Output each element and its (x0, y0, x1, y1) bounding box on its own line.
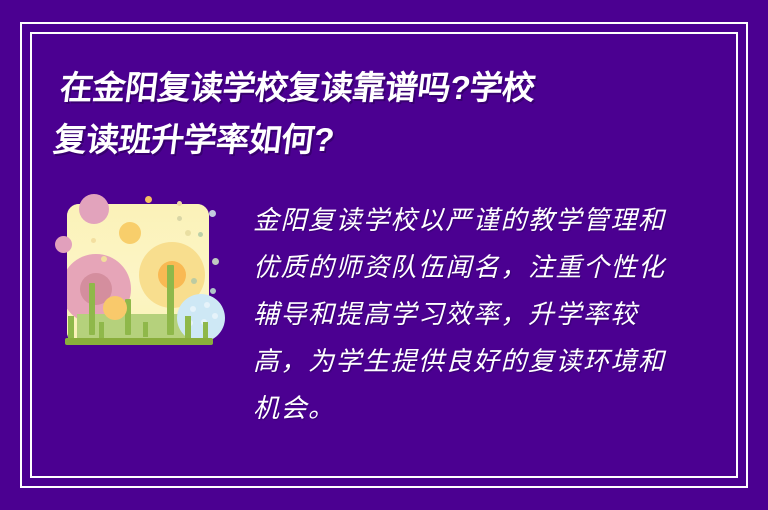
poster-canvas: 在金阳复读学校复读靠谱吗?学校 复读班升学率如何? (0, 0, 768, 510)
speck-icon (177, 201, 182, 206)
speck-icon (101, 256, 107, 262)
content-row: 金阳复读学校以严谨的教学管理和优质的师资队伍闻名，注重个性化辅导和提高学习效率，… (57, 198, 708, 433)
speck-icon (209, 210, 216, 217)
blue-flower-dot-icon (212, 313, 218, 319)
speck-icon (185, 230, 191, 236)
blue-flower-dot-icon (190, 306, 196, 312)
pink-bubble-icon (55, 236, 72, 253)
orange-dot-icon (119, 222, 141, 244)
page-title: 在金阳复读学校复读靠谱吗?学校 复读班升学率如何? (51, 62, 664, 166)
pink-bubble-icon (79, 194, 109, 224)
grass-blade (99, 322, 104, 338)
speck-icon (177, 216, 182, 221)
speck-icon (91, 238, 96, 243)
grass-blade (203, 322, 208, 338)
speck-icon (210, 288, 216, 294)
speck-icon (212, 258, 219, 265)
flower-stem (89, 283, 95, 335)
body-paragraph: 金阳复读学校以严谨的教学管理和优质的师资队伍闻名，注重个性化辅导和提高学习效率，… (253, 198, 673, 433)
orange-flower-icon (103, 296, 127, 320)
flower-stem (167, 265, 174, 335)
flower-garden-illustration (57, 198, 225, 350)
speck-icon (198, 232, 203, 237)
speck-icon (191, 278, 197, 284)
blue-flower-dot-icon (204, 302, 210, 308)
grass-blade (143, 322, 148, 337)
ground-line (65, 338, 213, 345)
orange-bubble-icon (145, 196, 152, 203)
grass-blade (185, 316, 191, 338)
grass-blade (68, 316, 74, 340)
